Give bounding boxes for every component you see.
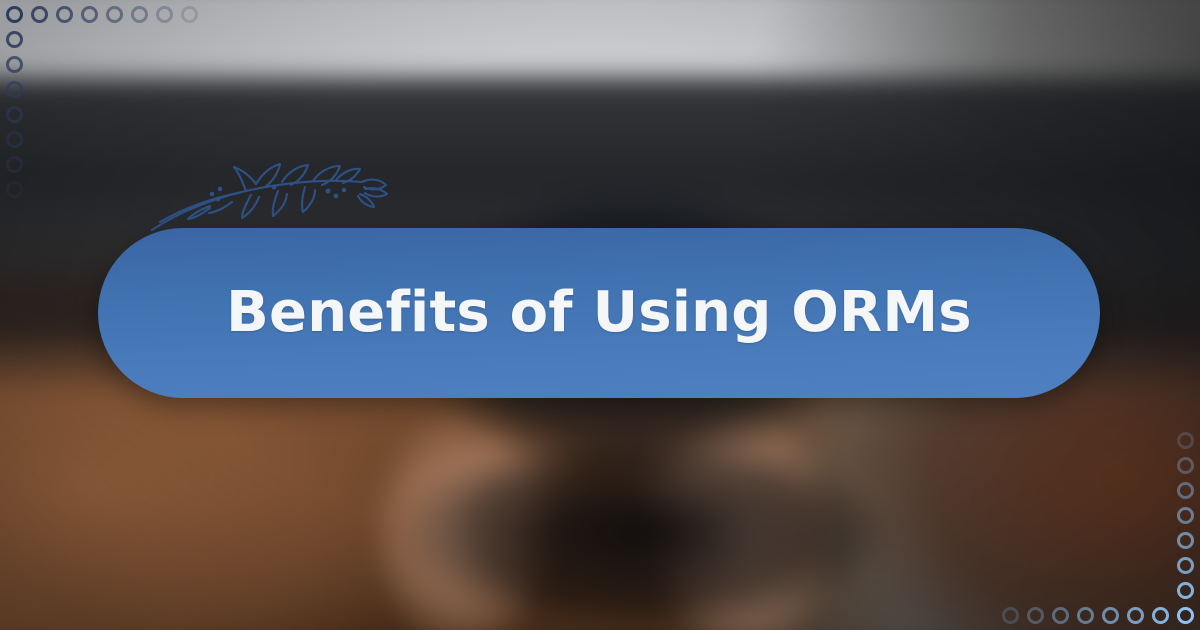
decoration-dot (6, 6, 23, 23)
decoration-dot (6, 156, 23, 173)
decoration-dot (81, 6, 98, 23)
decoration-dot (56, 6, 73, 23)
title-card: Benefits of Using ORMs (98, 228, 1100, 398)
decoration-dot (1127, 607, 1144, 624)
decoration-dot (156, 6, 173, 23)
decoration-dot (6, 181, 23, 198)
decoration-dot (1102, 607, 1119, 624)
decoration-dot (6, 106, 23, 123)
banner-canvas: Benefits of Using ORMs (0, 0, 1200, 630)
floral-branch-icon (150, 158, 412, 234)
decoration-dot (1052, 607, 1069, 624)
decoration-dot (1002, 607, 1019, 624)
decoration-dot (6, 56, 23, 73)
decoration-dot (106, 6, 123, 23)
decoration-dot (1027, 607, 1044, 624)
decoration-dot (1177, 582, 1194, 599)
decoration-dot (1177, 557, 1194, 574)
decoration-dot (1177, 532, 1194, 549)
decoration-dot (131, 6, 148, 23)
decoration-dot (31, 6, 48, 23)
decoration-dot (1152, 607, 1169, 624)
decoration-dot (1177, 432, 1194, 449)
decoration-dot (1177, 607, 1194, 624)
decoration-dot (181, 6, 198, 23)
page-title: Benefits of Using ORMs (156, 281, 1042, 344)
decoration-dot (6, 131, 23, 148)
decoration-dot (1177, 482, 1194, 499)
decoration-dot (1077, 607, 1094, 624)
decoration-dot (6, 31, 23, 48)
decoration-dot (1177, 507, 1194, 524)
decoration-dot (6, 81, 23, 98)
decoration-dot (1177, 457, 1194, 474)
